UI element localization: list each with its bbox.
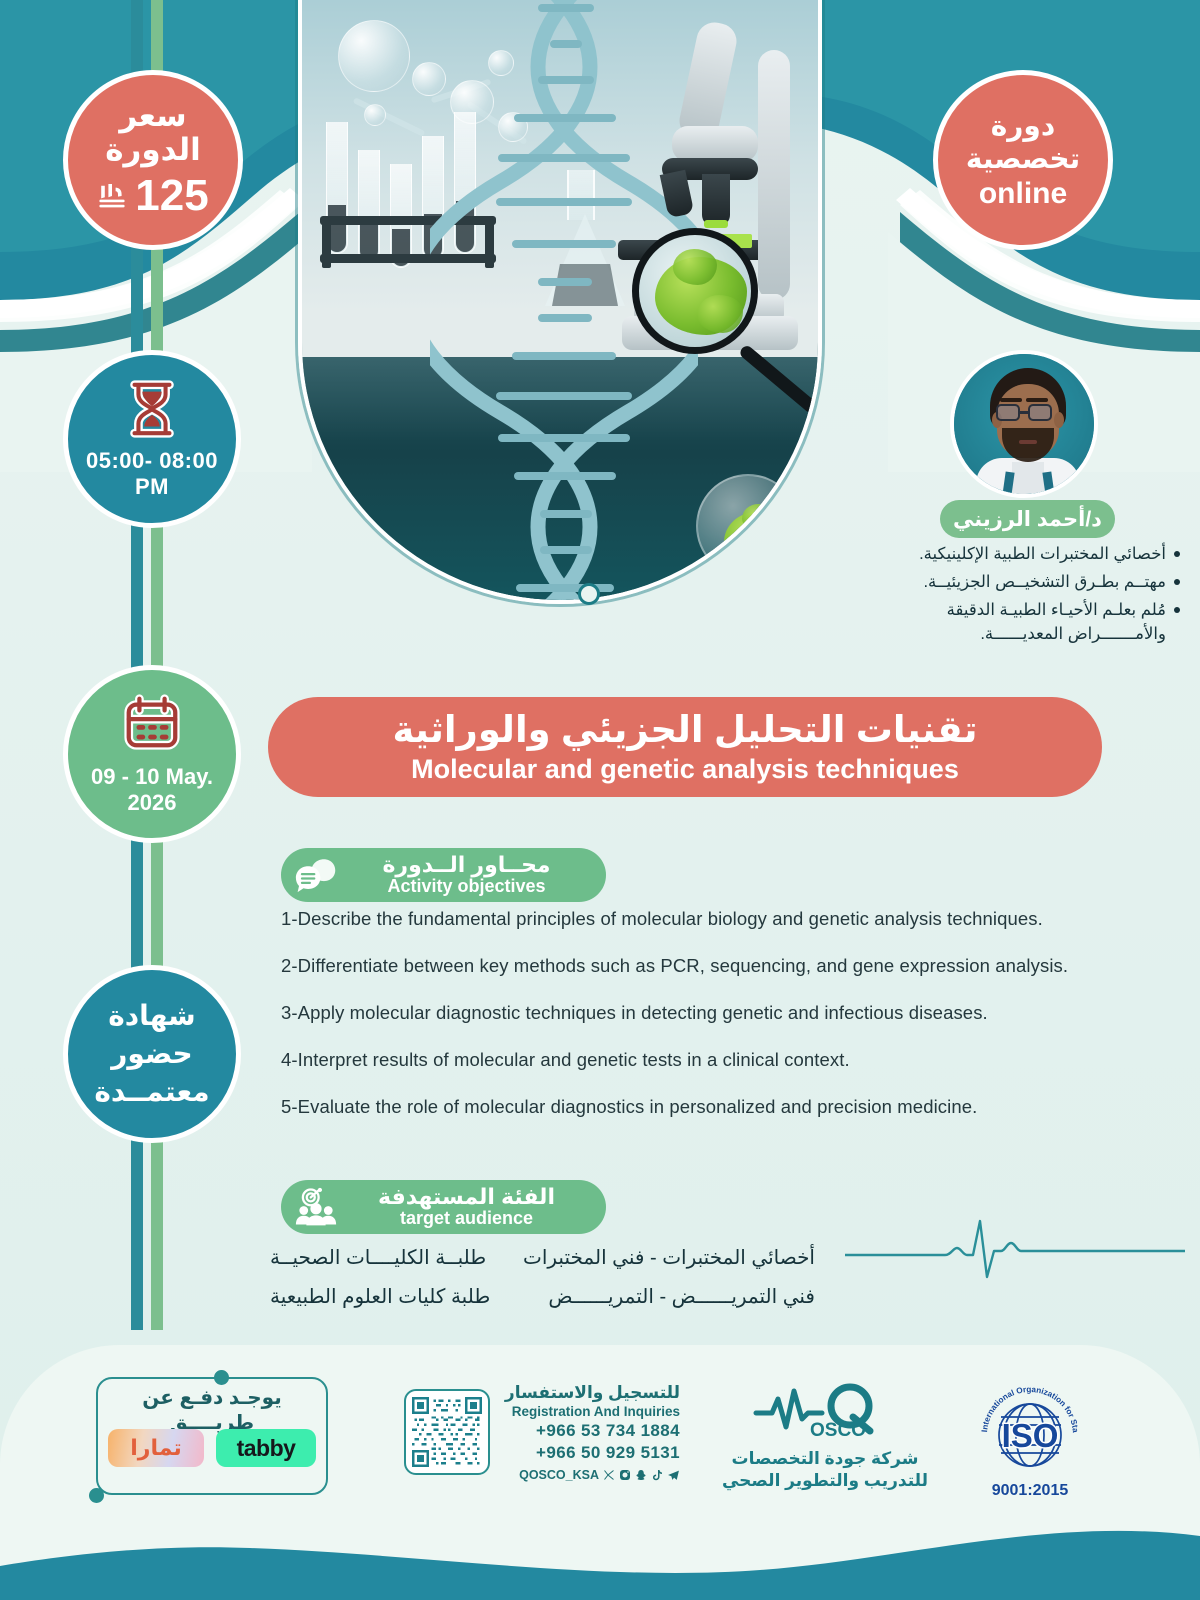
registration-title-en: Registration And Inquiries — [500, 1404, 680, 1419]
list-item: مُلم بعلـم الأحيـاء الطبيـة الدقيقة والأ… — [860, 598, 1180, 648]
audience-list: أخصائي المختبرات - فني المختبرات طلبــة … — [270, 1245, 815, 1323]
course-title-en: Molecular and genetic analysis technique… — [411, 754, 959, 785]
speaker-avatar — [950, 350, 1098, 498]
telegram-icon[interactable] — [667, 1469, 680, 1482]
tamara-logo[interactable]: تمارا — [108, 1429, 204, 1467]
round-flask — [696, 474, 800, 578]
date-badge: 09 - 10 May. 2026 — [63, 665, 241, 843]
course-poster: سعر الدورة 125 دورة تخصصية online — [0, 0, 1200, 1600]
audience-row-2: فني التمريــــــض - التمريــــــض طلبة ك… — [270, 1284, 815, 1309]
company-name-line2: للتدريب والتطوير الصحي — [700, 1470, 950, 1492]
date-line1: 09 - 10 May. — [91, 764, 213, 790]
audience-pill-ar: الفئة المستهدفة — [378, 1185, 555, 1209]
bullet-dot — [1174, 579, 1180, 585]
objective-item-4: 4-Interpret results of molecular and gen… — [281, 1049, 1091, 1071]
list-item: أخصائي المختبرات الطبية الإكلينيكية. — [860, 542, 1180, 567]
hero-bottom-dot — [578, 583, 600, 605]
audience-row-1: أخصائي المختبرات - فني المختبرات طلبــة … — [270, 1245, 815, 1270]
course-title-ar: تقنيات التحليل الجزيئي والوراثية — [392, 709, 977, 752]
price-badge: سعر الدورة 125 — [63, 70, 243, 250]
objectives-pill: محــاور الــدورة Activity objectives — [281, 848, 606, 902]
poster-footer: يوجـد دفـع عن طريــــق تمارا tabby — [0, 1345, 1200, 1600]
tiktok-icon[interactable] — [651, 1469, 663, 1481]
payment-dot-bottom — [89, 1488, 104, 1503]
hourglass-icon — [121, 378, 183, 440]
company-name-line1: شركة جودة التخصصات — [700, 1448, 950, 1470]
audience-row-2-left: طلبة كليات العلوم الطبيعية — [270, 1284, 490, 1309]
speech-bubble-icon — [295, 854, 337, 896]
audience-pill-en: target audience — [400, 1209, 533, 1228]
objective-item-1: 1-Describe the fundamental principles of… — [281, 908, 1091, 930]
company-logo: OSCO شركة جودة التخصصات للتدريب والتطوير… — [700, 1381, 950, 1492]
course-title-banner: تقنيات التحليل الجزيئي والوراثية Molecul… — [268, 697, 1102, 797]
qosco-mark-icon: OSCO — [750, 1381, 900, 1439]
hero-lab-image — [298, 0, 822, 604]
payment-dot-top — [214, 1370, 229, 1385]
calendar-icon — [121, 692, 183, 754]
registration-title-ar: للتسجيل والاستفسار — [500, 1383, 680, 1403]
target-audience-icon — [295, 1186, 337, 1228]
speaker-bio-1: مهتــم بطـرق التشخيــص الجزيئيــة. — [923, 570, 1166, 595]
time-value-line1: 05:00- 08:00 — [86, 448, 218, 474]
date-line2: 2026 — [91, 790, 213, 816]
svg-text:OSCO: OSCO — [810, 1420, 866, 1439]
speaker-bio-list: أخصائي المختبرات الطبية الإكلينيكية. مهت… — [860, 542, 1180, 650]
magnifying-glass-icon — [632, 228, 758, 354]
registration-info: للتسجيل والاستفسار Registration And Inqu… — [500, 1383, 680, 1482]
online-badge-ar: دورة تخصصية — [938, 109, 1108, 175]
audience-row-1-left: طلبــة الكليــــات الصحيــة — [270, 1245, 486, 1270]
bullet-dot — [1174, 607, 1180, 613]
objectives-pill-en: Activity objectives — [387, 877, 545, 896]
tabby-label: tabby — [237, 1435, 296, 1462]
price-label: سعر الدورة — [68, 99, 238, 167]
qr-code-icon[interactable] — [404, 1389, 490, 1475]
x-icon[interactable] — [603, 1469, 615, 1481]
objectives-pill-ar: محــاور الــدورة — [382, 853, 550, 877]
saudi-riyal-icon — [97, 180, 127, 212]
snapchat-icon[interactable] — [635, 1469, 647, 1481]
payment-label: يوجـد دفـع عن طريــــق — [108, 1385, 316, 1435]
certificate-line1: شهادة حضور — [68, 997, 236, 1073]
bullet-dot — [1174, 551, 1180, 557]
certificate-badge: شهادة حضور معتمــدة — [63, 965, 241, 1143]
speaker-name: د/أحمد الرزيني — [940, 500, 1115, 538]
speaker-bio-2: مُلم بعلـم الأحيـاء الطبيـة الدقيقة والأ… — [860, 598, 1166, 648]
certificate-line2: معتمــدة — [68, 1073, 236, 1111]
phone-2[interactable]: +966 50 929 5131 — [500, 1443, 680, 1463]
svg-text:ISO: ISO — [1002, 1417, 1059, 1454]
price-amount: 125 — [135, 171, 208, 221]
online-badge-en: online — [979, 177, 1067, 211]
audience-row-1-right: أخصائي المختبرات - فني المختبرات — [523, 1245, 815, 1270]
heartbeat-line-icon — [845, 1215, 1185, 1285]
iso-globe-icon: International Organization for Standardi… — [970, 1377, 1090, 1479]
tabby-logo[interactable]: tabby — [216, 1429, 316, 1467]
iso-badge: International Organization for Standardi… — [945, 1377, 1115, 1500]
time-badge: 05:00- 08:00 PM — [63, 350, 241, 528]
iso-version: 9001:2015 — [945, 1482, 1115, 1500]
time-value-line2: PM — [86, 474, 218, 500]
list-item: مهتــم بطـرق التشخيــص الجزيئيــة. — [860, 570, 1180, 595]
audience-pill: الفئة المستهدفة target audience — [281, 1180, 606, 1234]
audience-row-2-right: فني التمريــــــض - التمريــــــض — [548, 1284, 815, 1309]
footer-wave — [0, 1514, 1200, 1600]
phone-1[interactable]: +966 53 734 1884 — [500, 1421, 680, 1441]
speaker-bio-0: أخصائي المختبرات الطبية الإكلينيكية. — [919, 542, 1166, 567]
online-badge: دورة تخصصية online — [933, 70, 1113, 250]
objective-item-3: 3-Apply molecular diagnostic techniques … — [281, 1002, 1091, 1024]
instagram-icon[interactable] — [619, 1469, 631, 1481]
tamara-label: تمارا — [130, 1435, 181, 1461]
objectives-list: 1-Describe the fundamental principles of… — [281, 908, 1091, 1143]
objective-item-2: 2-Differentiate between key methods such… — [281, 955, 1091, 977]
objective-item-5: 5-Evaluate the role of molecular diagnos… — [281, 1096, 1091, 1118]
social-handle: QOSCO_KSA — [519, 1468, 599, 1482]
